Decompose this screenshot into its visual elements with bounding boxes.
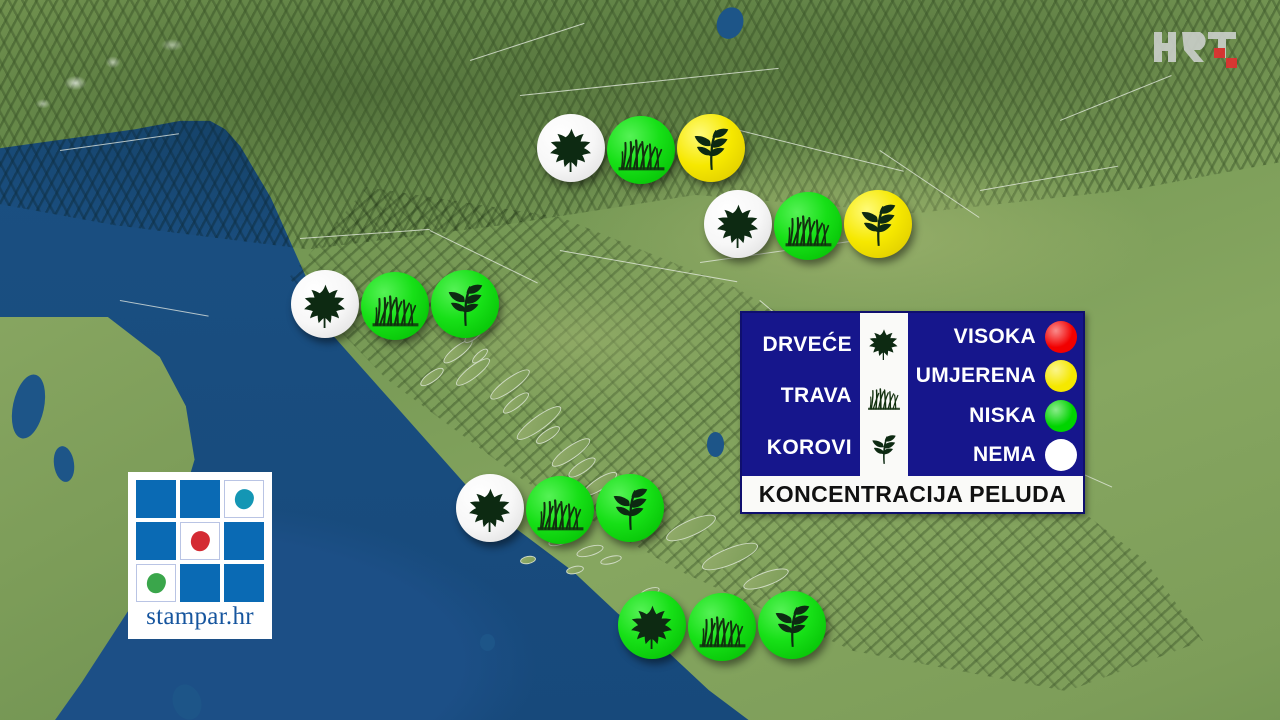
pollen-marker-zagreb-region-grass[interactable] — [607, 116, 675, 184]
stampar-logo[interactable]: stampar.hr — [128, 472, 272, 639]
pollen-marker-split-region-grass[interactable] — [526, 476, 594, 544]
logo-cell-blob-center — [180, 522, 220, 560]
legend-level-label-3: NEMA — [973, 443, 1036, 467]
legend-level-label-1: UMJERENA — [916, 364, 1036, 388]
logo-cell-square — [180, 480, 220, 518]
weed-icon — [768, 601, 817, 650]
grass-icon — [698, 603, 747, 652]
legend-level-dot-2 — [1045, 400, 1077, 432]
pollen-marker-dubrovnik-region-tree-leaf[interactable] — [618, 591, 686, 659]
logo-cell-square — [180, 564, 220, 602]
legend-category-labels: DRVEĆETRAVAKOROVI — [742, 313, 858, 479]
legend-level-dot-0 — [1045, 321, 1077, 353]
pollen-marker-slavonija-region-tree-leaf[interactable] — [704, 190, 772, 258]
legend-title-bar: KONCENTRACIJA PELUDA — [742, 476, 1083, 512]
pollen-marker-zagreb-region-weed[interactable] — [677, 114, 745, 182]
pollen-marker-rijeka-istra-region-tree-leaf[interactable] — [291, 270, 359, 338]
logo-cell-blob-bottom-left — [136, 564, 176, 602]
logo-blob-icon — [233, 488, 256, 510]
logo-text: stampar.hr — [136, 603, 264, 631]
logo-blob-icon — [145, 572, 168, 594]
pollen-marker-dubrovnik-region-grass[interactable] — [688, 593, 756, 661]
tree-leaf-icon — [628, 601, 677, 650]
hrt-logo — [1152, 28, 1240, 72]
grass-icon — [371, 282, 420, 331]
legend-level-label-2: NISKA — [969, 404, 1036, 428]
legend-category-label-2: KOROVI — [767, 437, 852, 458]
pollen-marker-rijeka-istra-region-grass[interactable] — [361, 272, 429, 340]
grass-icon — [536, 486, 585, 535]
legend-level-dot-1 — [1045, 360, 1077, 392]
pollen-marker-split-region-tree-leaf[interactable] — [456, 474, 524, 542]
legend-category-label-0: DRVEĆE — [762, 334, 852, 355]
logo-cell-square — [136, 480, 176, 518]
logo-cell-square — [136, 522, 176, 560]
logo-blob-icon — [189, 530, 212, 552]
weed-icon — [854, 200, 903, 249]
logo-cell-blob-top-right — [224, 480, 264, 518]
legend-panel: DRVEĆETRAVAKOROVI VISOKAUMJERENANISKANEM… — [740, 311, 1085, 514]
legend-title: KONCENTRACIJA PELUDA — [759, 481, 1066, 508]
weed-icon — [687, 124, 736, 173]
legend-level-row-3: NEMA — [908, 439, 1077, 471]
legend-category-icons — [860, 313, 908, 479]
legend-category-label-1: TRAVA — [781, 385, 852, 406]
logo-grid — [136, 480, 264, 602]
legend-level-dot-3 — [1045, 439, 1077, 471]
logo-cell-square — [224, 522, 264, 560]
pollen-marker-rijeka-istra-region-weed[interactable] — [431, 270, 499, 338]
pollen-forecast-screen: DRVEĆETRAVAKOROVI VISOKAUMJERENANISKANEM… — [0, 0, 1280, 720]
legend-level-row-2: NISKA — [908, 400, 1077, 432]
pollen-marker-dubrovnik-region-weed[interactable] — [758, 591, 826, 659]
weed-icon — [606, 484, 655, 533]
pollen-marker-zagreb-region-tree-leaf[interactable] — [537, 114, 605, 182]
pollen-marker-slavonija-region-weed[interactable] — [844, 190, 912, 258]
legend-level-row-0: VISOKA — [908, 321, 1077, 353]
tree-leaf-icon — [714, 200, 763, 249]
tree-leaf-icon — [466, 484, 515, 533]
legend-level-row-1: UMJERENA — [908, 360, 1077, 392]
grass-icon — [784, 202, 833, 251]
tree-leaf-icon — [867, 326, 901, 360]
legend-level-list: VISOKAUMJERENANISKANEMA — [908, 313, 1083, 479]
legend-body: DRVEĆETRAVAKOROVI VISOKAUMJERENANISKANEM… — [742, 313, 1083, 479]
weed-icon — [441, 280, 490, 329]
hrt-logo-icon — [1152, 28, 1240, 72]
grass-icon — [867, 379, 901, 413]
tree-leaf-icon — [301, 280, 350, 329]
grass-icon — [617, 126, 666, 175]
pollen-marker-slavonija-region-grass[interactable] — [774, 192, 842, 260]
legend-level-label-0: VISOKA — [954, 325, 1036, 349]
logo-cell-square — [224, 564, 264, 602]
tree-leaf-icon — [547, 124, 596, 173]
pollen-marker-split-region-weed[interactable] — [596, 474, 664, 542]
weed-icon — [867, 432, 901, 466]
